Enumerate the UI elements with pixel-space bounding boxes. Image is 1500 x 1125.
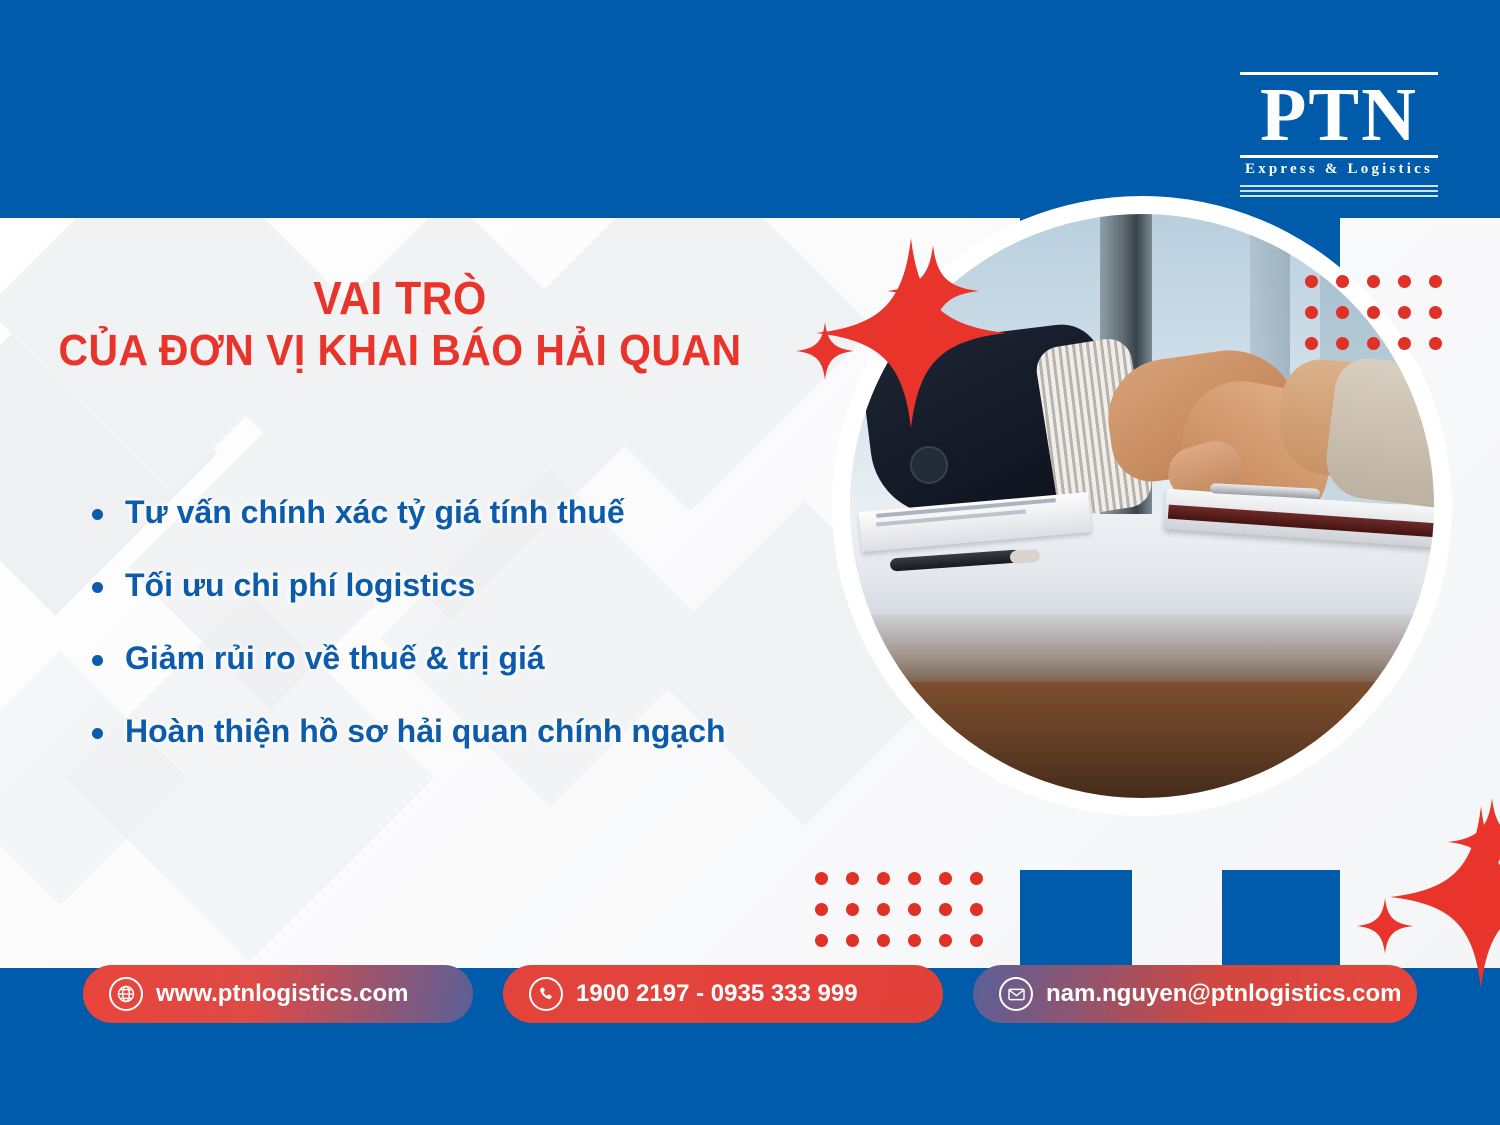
grid-dot <box>846 872 859 885</box>
bullet-dot-icon <box>92 509 103 520</box>
logo-wordmark: PTN <box>1240 75 1438 155</box>
list-item-label: Giảm rủi ro về thuế & trị giá <box>125 638 545 678</box>
phone-icon <box>529 977 563 1011</box>
grid-dot <box>1336 337 1349 350</box>
grid-dot <box>1336 275 1349 288</box>
grid-dot <box>1367 306 1380 319</box>
dot-grid-bottom-left <box>815 872 1001 965</box>
list-item-label: Tối ưu chi phí logistics <box>125 565 475 605</box>
grid-dot <box>1398 306 1411 319</box>
banner-canvas: VAI TRÒ CỦA ĐƠN VỊ KHAI BÁO HẢI QUAN Tư … <box>0 0 1500 1125</box>
benefit-list: Tư vấn chính xác tỷ giá tính thuế Tối ưu… <box>92 492 892 784</box>
bullet-dot-icon <box>92 582 103 593</box>
contact-bar: www.ptnlogistics.com 1900 2197 - 0935 33… <box>0 965 1500 1027</box>
globe-icon <box>109 977 143 1011</box>
list-item: Hoàn thiện hồ sơ hải quan chính ngạch <box>92 711 892 751</box>
email-label: nam.nguyen@ptnlogistics.com <box>1046 980 1401 1008</box>
grid-dot <box>815 903 828 916</box>
grid-dot <box>970 903 983 916</box>
grid-dot <box>1367 337 1380 350</box>
headline: VAI TRÒ CỦA ĐƠN VỊ KHAI BÁO HẢI QUAN <box>0 272 800 378</box>
sparkle-icon-small <box>1357 898 1413 954</box>
logo-rule-stack <box>1240 185 1438 197</box>
list-item: Tư vấn chính xác tỷ giá tính thuế <box>92 492 892 532</box>
brand-logo: PTN Express & Logistics <box>1240 72 1438 197</box>
sparkle-icon-medium <box>1448 798 1500 886</box>
website-label: www.ptnlogistics.com <box>156 980 408 1008</box>
list-item: Giảm rủi ro về thuế & trị giá <box>92 638 892 678</box>
grid-dot <box>1398 337 1411 350</box>
grid-dot <box>877 934 890 947</box>
list-item-label: Hoàn thiện hồ sơ hải quan chính ngạch <box>125 711 726 751</box>
dot-grid-top-right <box>1305 275 1460 368</box>
grid-dot <box>908 903 921 916</box>
grid-dot <box>846 903 859 916</box>
logo-tagline: Express & Logistics <box>1240 158 1438 182</box>
bullet-dot-icon <box>92 728 103 739</box>
grid-dot <box>1429 337 1442 350</box>
frame-tab-bottom-right <box>1222 870 1340 968</box>
grid-dot <box>970 934 983 947</box>
sparkle-icon-small <box>796 322 854 380</box>
grid-dot <box>815 934 828 947</box>
grid-dot <box>846 934 859 947</box>
list-item-label: Tư vấn chính xác tỷ giá tính thuế <box>125 492 625 532</box>
grid-dot <box>1305 306 1318 319</box>
headline-line-2: CỦA ĐƠN VỊ KHAI BÁO HẢI QUAN <box>28 324 772 378</box>
grid-dot <box>877 903 890 916</box>
grid-dot <box>908 872 921 885</box>
headline-line-1: VAI TRÒ <box>28 272 772 324</box>
grid-dot <box>1367 275 1380 288</box>
frame-tab-bottom-left <box>1020 870 1132 968</box>
grid-dot <box>1429 306 1442 319</box>
grid-dot <box>939 903 952 916</box>
grid-dot <box>815 872 828 885</box>
grid-dot <box>939 872 952 885</box>
envelope-icon <box>999 977 1033 1011</box>
list-item: Tối ưu chi phí logistics <box>92 565 892 605</box>
grid-dot <box>908 934 921 947</box>
email-pill[interactable]: nam.nguyen@ptnlogistics.com <box>973 965 1417 1023</box>
grid-dot <box>939 934 952 947</box>
bullet-dot-icon <box>92 655 103 666</box>
phone-pill[interactable]: 1900 2197 - 0935 333 999 <box>503 965 943 1023</box>
website-pill[interactable]: www.ptnlogistics.com <box>83 965 473 1023</box>
grid-dot <box>1336 306 1349 319</box>
grid-dot <box>1305 337 1318 350</box>
grid-dot <box>1429 275 1442 288</box>
grid-dot <box>877 872 890 885</box>
sparkle-icon-medium <box>887 245 979 337</box>
phone-label: 1900 2197 - 0935 333 999 <box>576 980 858 1008</box>
grid-dot <box>1305 275 1318 288</box>
grid-dot <box>1398 275 1411 288</box>
grid-dot <box>970 872 983 885</box>
